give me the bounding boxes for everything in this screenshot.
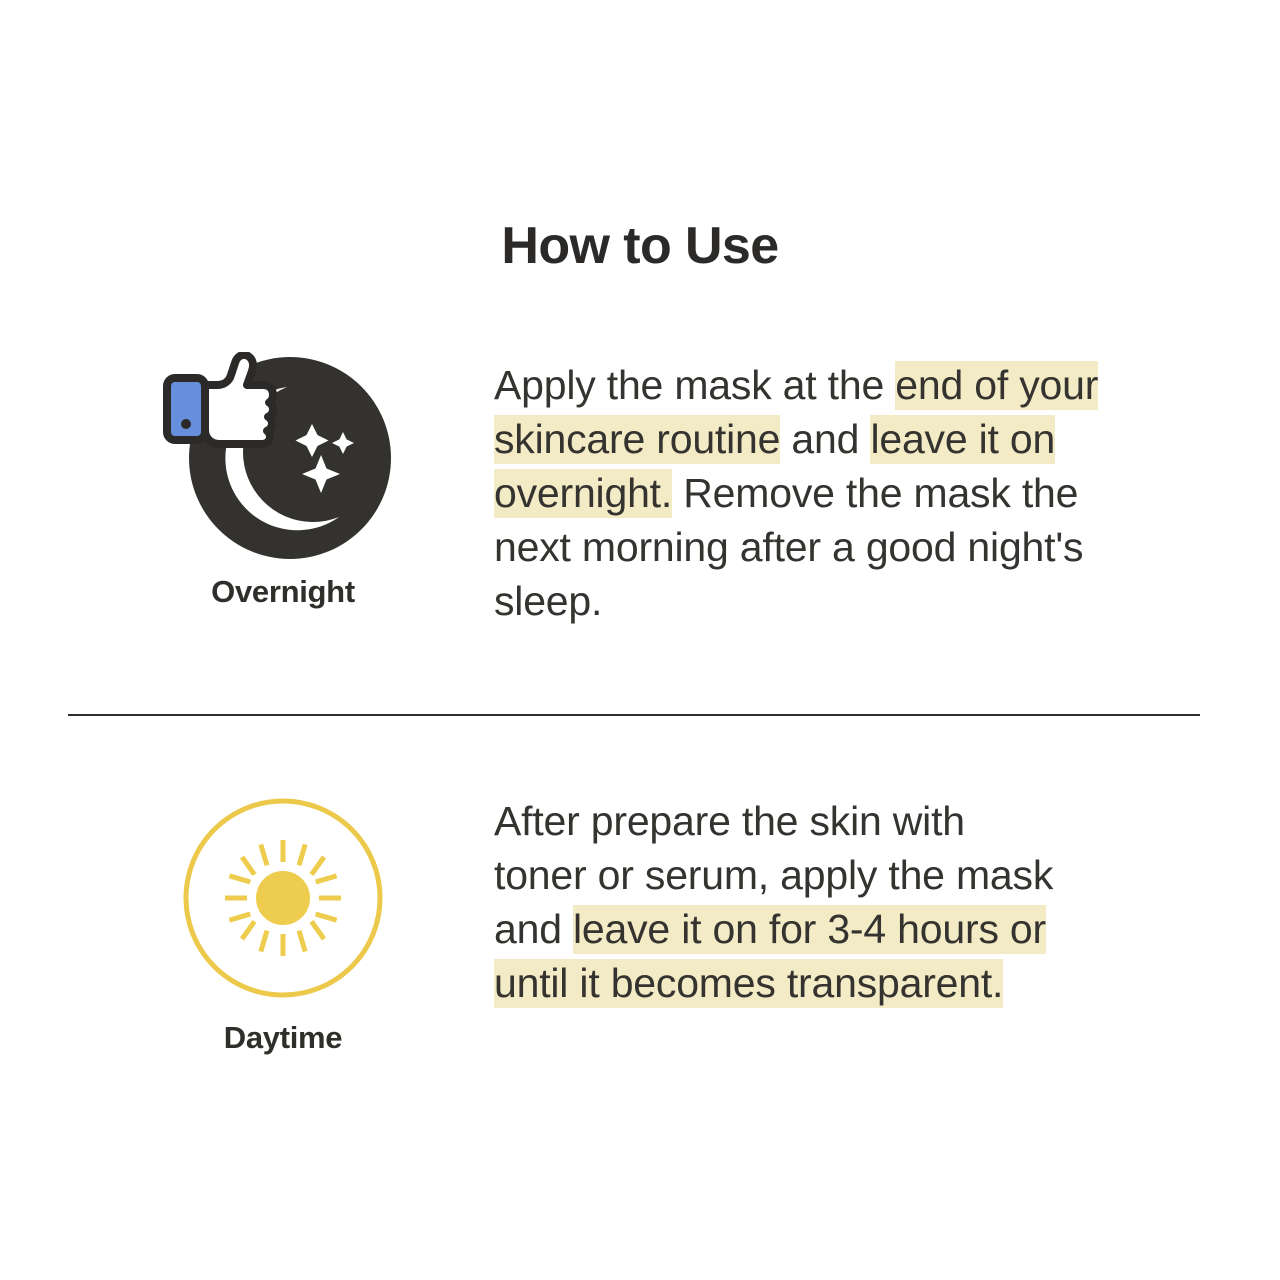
how-to-use-page: How to Use — [0, 0, 1280, 1280]
text-run: and — [780, 416, 870, 462]
overnight-icon-column: Overnight — [128, 352, 438, 610]
daytime-description: After prepare the skin with toner or ser… — [494, 794, 1054, 1010]
overnight-icon-wrap — [128, 352, 438, 564]
page-title: How to Use — [0, 217, 1280, 275]
moon-night-circle-icon — [159, 352, 407, 564]
sun-circle-icon — [181, 796, 385, 1000]
section-divider — [68, 714, 1200, 716]
text-run: Apply the mask at the — [494, 362, 895, 408]
overnight-description: Apply the mask at the end of your skinca… — [494, 358, 1124, 628]
daytime-icon-wrap — [128, 788, 438, 1000]
daytime-icon-column: Daytime — [128, 788, 438, 1056]
daytime-label: Daytime — [128, 1020, 438, 1056]
overnight-label: Overnight — [128, 574, 438, 610]
text-run-highlighted: leave it on for 3-4 hours or until it be… — [494, 905, 1046, 1008]
